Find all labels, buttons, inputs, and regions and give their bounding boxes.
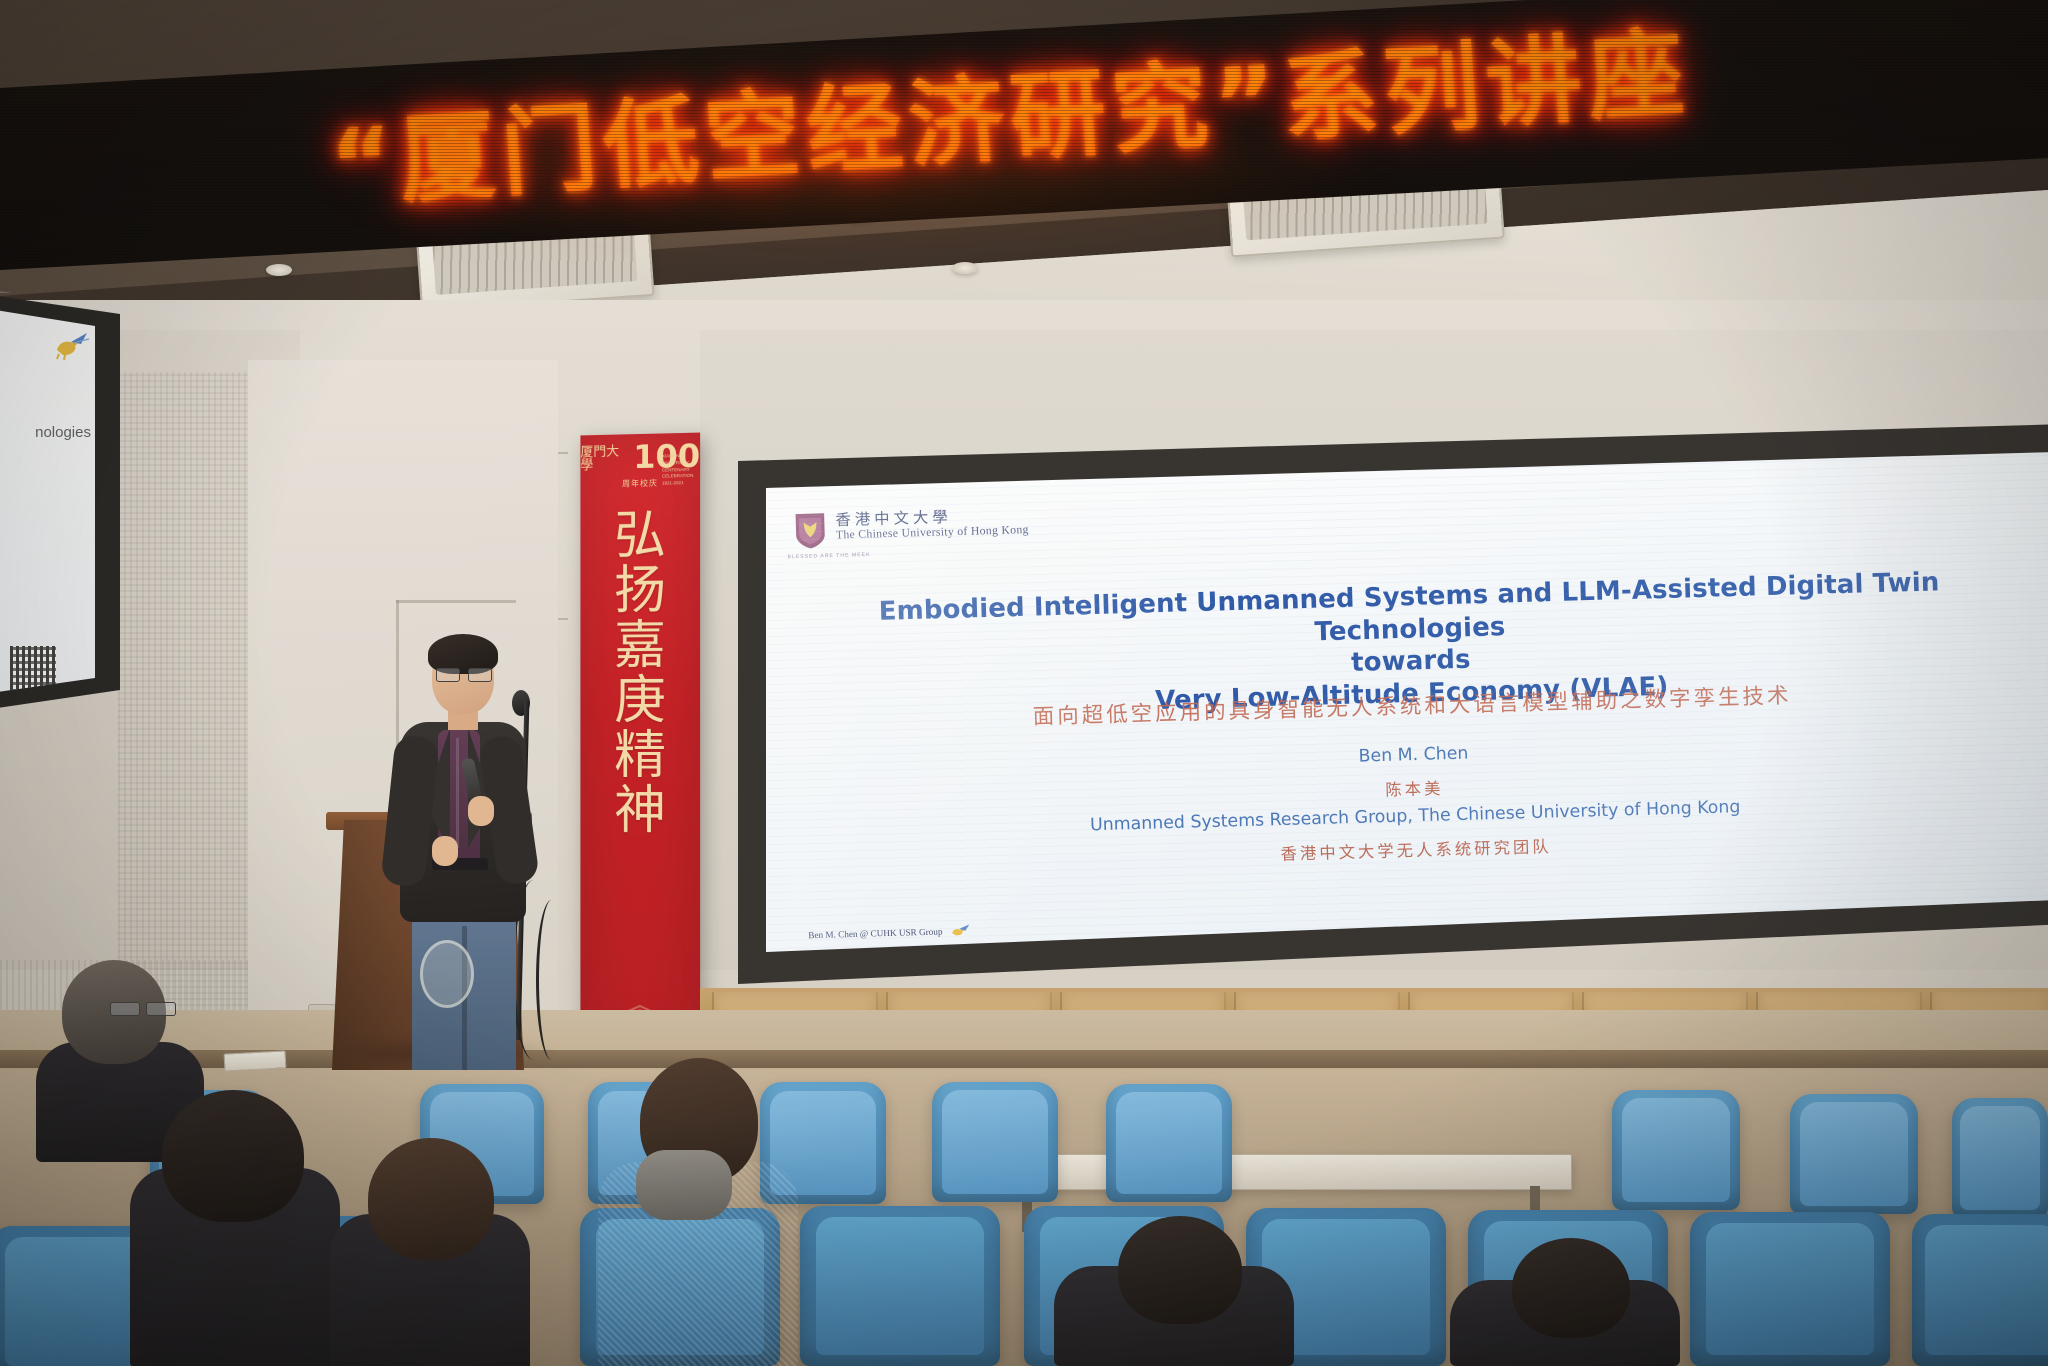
banner-char-2: 嘉 bbox=[614, 620, 666, 673]
cuhk-shield-icon bbox=[795, 512, 827, 550]
pegasus-footer-icon bbox=[948, 923, 971, 937]
cuhk-motto: BLESSED ARE THE MEEK bbox=[787, 552, 870, 560]
speaker-hand-left bbox=[432, 836, 458, 866]
desk-booklet[interactable] bbox=[224, 1050, 287, 1071]
slide-footer-text: Ben M. Chen @ CUHK USR Group bbox=[808, 926, 942, 940]
stage-edge bbox=[0, 1050, 2048, 1068]
audience-seat[interactable] bbox=[1612, 1090, 1740, 1210]
banner-char-0: 弘 bbox=[614, 510, 666, 564]
xiamen-university-banner: 厦門大學 100 周年校庆 XIAMEN UNIVERSITYCENTENARY… bbox=[580, 433, 700, 1056]
audience-head bbox=[1512, 1238, 1630, 1338]
banner-char-1: 扬 bbox=[614, 565, 666, 619]
ceiling-spot-3 bbox=[952, 262, 978, 274]
audience-head bbox=[162, 1090, 304, 1222]
floor-cable-2 bbox=[536, 900, 567, 1060]
slide-footer: Ben M. Chen @ CUHK USR Group bbox=[808, 923, 971, 941]
cuhk-name-block: 香港中文大學 The Chinese University of Hong Ko… bbox=[835, 507, 1029, 543]
speaker-glasses-icon bbox=[436, 668, 492, 680]
banner-university-name: 厦門大學 bbox=[580, 445, 631, 472]
presentation-slide: 香港中文大學 The Chinese University of Hong Ko… bbox=[766, 452, 2048, 952]
audience-desk-right bbox=[1000, 1154, 1572, 1190]
audience-seat-front[interactable] bbox=[800, 1206, 1000, 1366]
speaker-hand-right bbox=[468, 796, 494, 826]
ceiling-spot-1 bbox=[266, 264, 292, 276]
banner-char-3: 庚 bbox=[614, 675, 666, 728]
audience-glasses-icon bbox=[110, 1002, 176, 1014]
audience-seat[interactable] bbox=[932, 1082, 1058, 1202]
audience-seat-front[interactable] bbox=[1690, 1212, 1890, 1366]
main-projection-screen[interactable]: 香港中文大學 The Chinese University of Hong Ko… bbox=[766, 452, 2048, 952]
lecture-hall-photo: “厦门低空经济研究”系列讲座 nologies 厦門大學 100 周年校庆 XI… bbox=[0, 0, 2048, 1366]
banner-anniversary-english: XIAMEN UNIVERSITYCENTENARY CELEBRATION19… bbox=[662, 453, 696, 488]
audience-seat[interactable] bbox=[1106, 1084, 1232, 1202]
audience-seat-front[interactable] bbox=[1912, 1214, 2048, 1366]
audience-seat[interactable] bbox=[1790, 1094, 1918, 1214]
cuhk-branding: 香港中文大學 The Chinese University of Hong Ko… bbox=[795, 507, 1030, 550]
banner-char-4: 精 bbox=[614, 730, 666, 783]
side-screen-bezel bbox=[0, 286, 140, 732]
audience-head bbox=[1118, 1216, 1242, 1324]
banner-char-5: 神 bbox=[614, 785, 666, 838]
door-frame-top bbox=[396, 600, 516, 603]
speaker-jeans-emblem bbox=[420, 940, 474, 1008]
audience-head bbox=[368, 1138, 494, 1260]
audience-scarf bbox=[636, 1150, 732, 1220]
banner-vertical-slogan: 弘 扬 嘉 庚 精 神 bbox=[580, 509, 700, 839]
audience-seat[interactable] bbox=[1952, 1098, 2048, 1218]
speaker-person bbox=[380, 640, 540, 1070]
